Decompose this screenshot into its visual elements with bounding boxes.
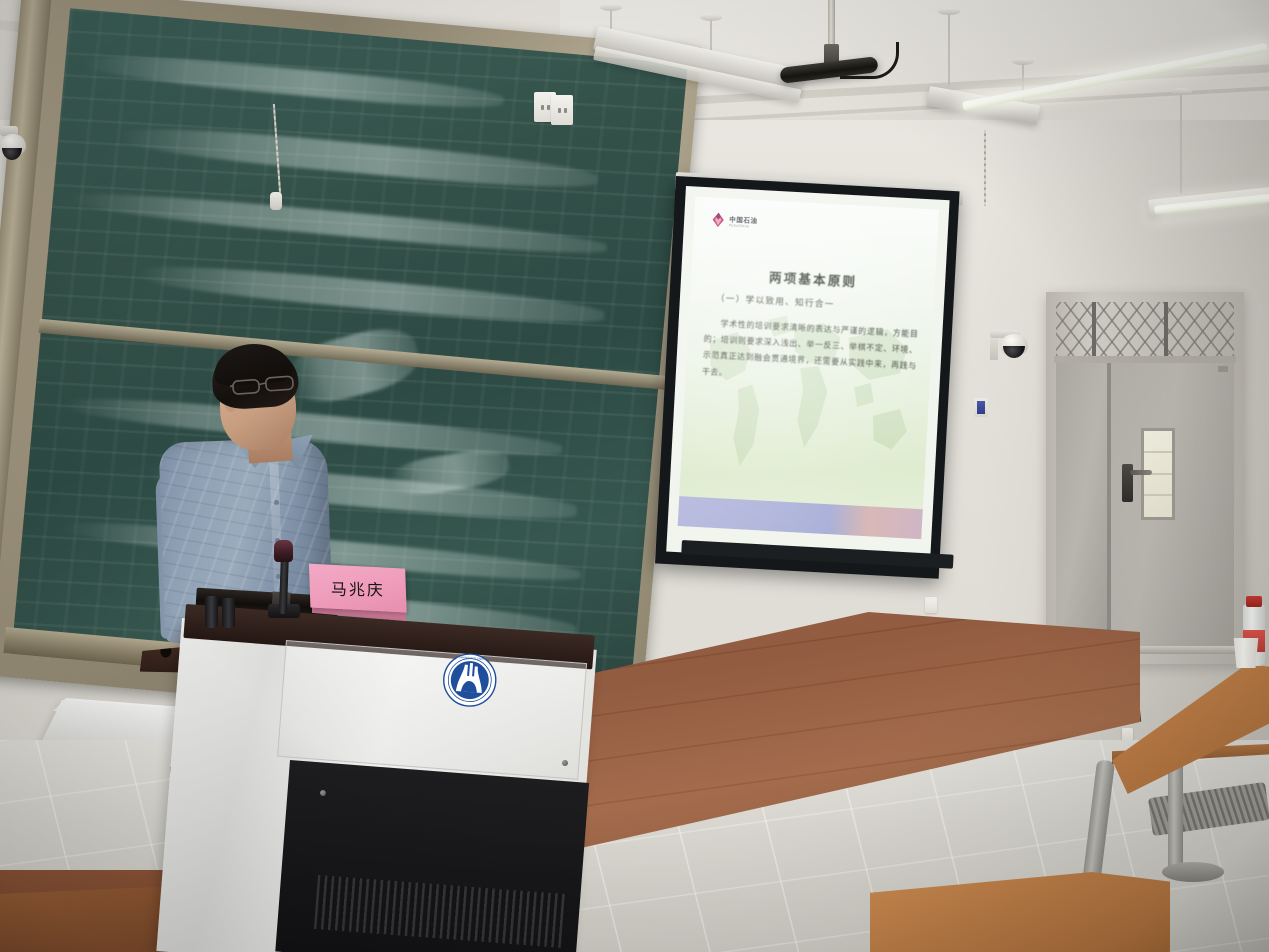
- foreground-bench: [0, 886, 176, 952]
- desk-foot: [1162, 862, 1224, 882]
- petrochina-diamond-icon: [710, 211, 727, 228]
- ceiling-wire: [984, 130, 986, 206]
- podium-front-panel: [277, 640, 587, 780]
- microphone-tertiary[interactable]: [222, 598, 235, 628]
- door-seam: [1107, 363, 1111, 651]
- light-stem-3: [948, 14, 950, 86]
- transom-mullion-1: [1092, 302, 1096, 356]
- door-handle-lever[interactable]: [1130, 470, 1152, 475]
- nameplate: 马兆庆: [309, 564, 407, 613]
- projection-screen: 中国石油 PetroChina 两项基本原则 （一）学以致用、知行合一 学术性的…: [666, 186, 949, 566]
- door-header-rail: [1054, 356, 1236, 363]
- bottle-cap[interactable]: [1246, 596, 1262, 607]
- nameplate-text: 马兆庆: [330, 576, 385, 601]
- wall-outlet-right[interactable]: [551, 95, 573, 125]
- wall-outlet-stage[interactable]: [925, 597, 937, 613]
- door-transom-window: [1056, 302, 1234, 356]
- presentation-slide: 中国石油 PetroChina 两项基本原则 （一）学以致用、知行合一 学术性的…: [678, 197, 939, 540]
- nameplate-holder: 马兆庆: [309, 564, 411, 623]
- light-pull-weight[interactable]: [270, 192, 282, 210]
- shirt-button-1: [274, 500, 279, 505]
- slide-title: 两项基本原则: [691, 262, 936, 294]
- door-closer-plate: [1218, 366, 1228, 372]
- slide-body-text: 学术性的培训要求清晰的表达与严谨的逻辑，方能目的；培训则要求深入浅出、举一反三、…: [702, 315, 919, 391]
- classroom-photo: 中国石油 PetroChina 两项基本原则 （一）学以致用、知行合一 学术性的…: [0, 0, 1269, 952]
- projector-pole: [828, 0, 835, 46]
- light-stem-5: [1180, 94, 1182, 194]
- paper-cup[interactable]: [1232, 638, 1260, 668]
- transom-mullion-2: [1164, 302, 1168, 356]
- university-emblem-svg: SHANDONG UNIV: [440, 650, 500, 710]
- panel-screw-left: [320, 790, 326, 796]
- door-leaf-left[interactable]: [1056, 363, 1108, 651]
- panel-screw-right: [562, 760, 568, 766]
- microphone-head[interactable]: [274, 540, 293, 562]
- slide-logo-subtext: PetroChina: [729, 223, 758, 229]
- transom-mesh-pattern: [1056, 302, 1234, 356]
- slide-logo: 中国石油 PetroChina: [710, 211, 758, 230]
- university-emblem: SHANDONG UNIV: [440, 650, 500, 710]
- wall-plate-indicator: [977, 401, 985, 414]
- microphone-secondary[interactable]: [205, 596, 218, 628]
